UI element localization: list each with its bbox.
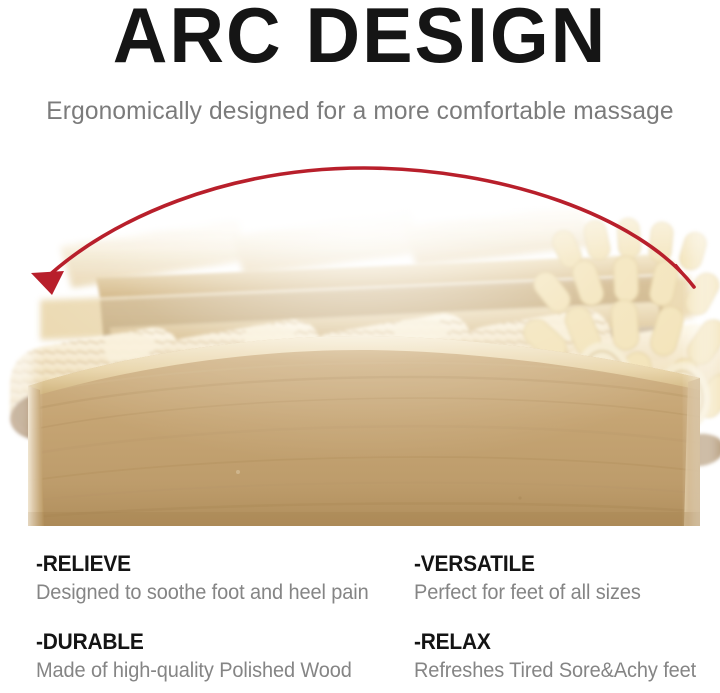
feature-description: Designed to soothe foot and heel pain (36, 581, 350, 606)
product-illustration (0, 150, 720, 542)
feature-list: -RELIEVE Designed to soothe foot and hee… (0, 546, 720, 693)
feature-description: Perfect for feet of all sizes (414, 581, 720, 606)
feature-title: -RELIEVE (36, 552, 350, 577)
feature-title: -DURABLE (36, 630, 350, 655)
feature-description: Refreshes Tired Sore&Achy feet (414, 659, 720, 684)
feature-item-relax: -RELAX Refreshes Tired Sore&Achy feet (414, 630, 720, 683)
feature-item-durable: -DURABLE Made of high-quality Polished W… (36, 630, 366, 683)
feature-description: Made of high-quality Polished Wood (36, 659, 350, 684)
feature-item-versatile: -VERSATILE Perfect for feet of all sizes (414, 552, 720, 605)
product-photo (0, 150, 720, 542)
page-title: ARC DESIGN (11, 0, 709, 74)
product-infographic: ARC DESIGN Ergonomically designed for a … (0, 0, 720, 693)
feature-item-relieve: -RELIEVE Designed to soothe foot and hee… (36, 552, 366, 605)
page-subtitle: Ergonomically designed for a more comfor… (7, 97, 713, 126)
feature-title: -VERSATILE (414, 552, 720, 577)
feature-title: -RELAX (414, 630, 720, 655)
